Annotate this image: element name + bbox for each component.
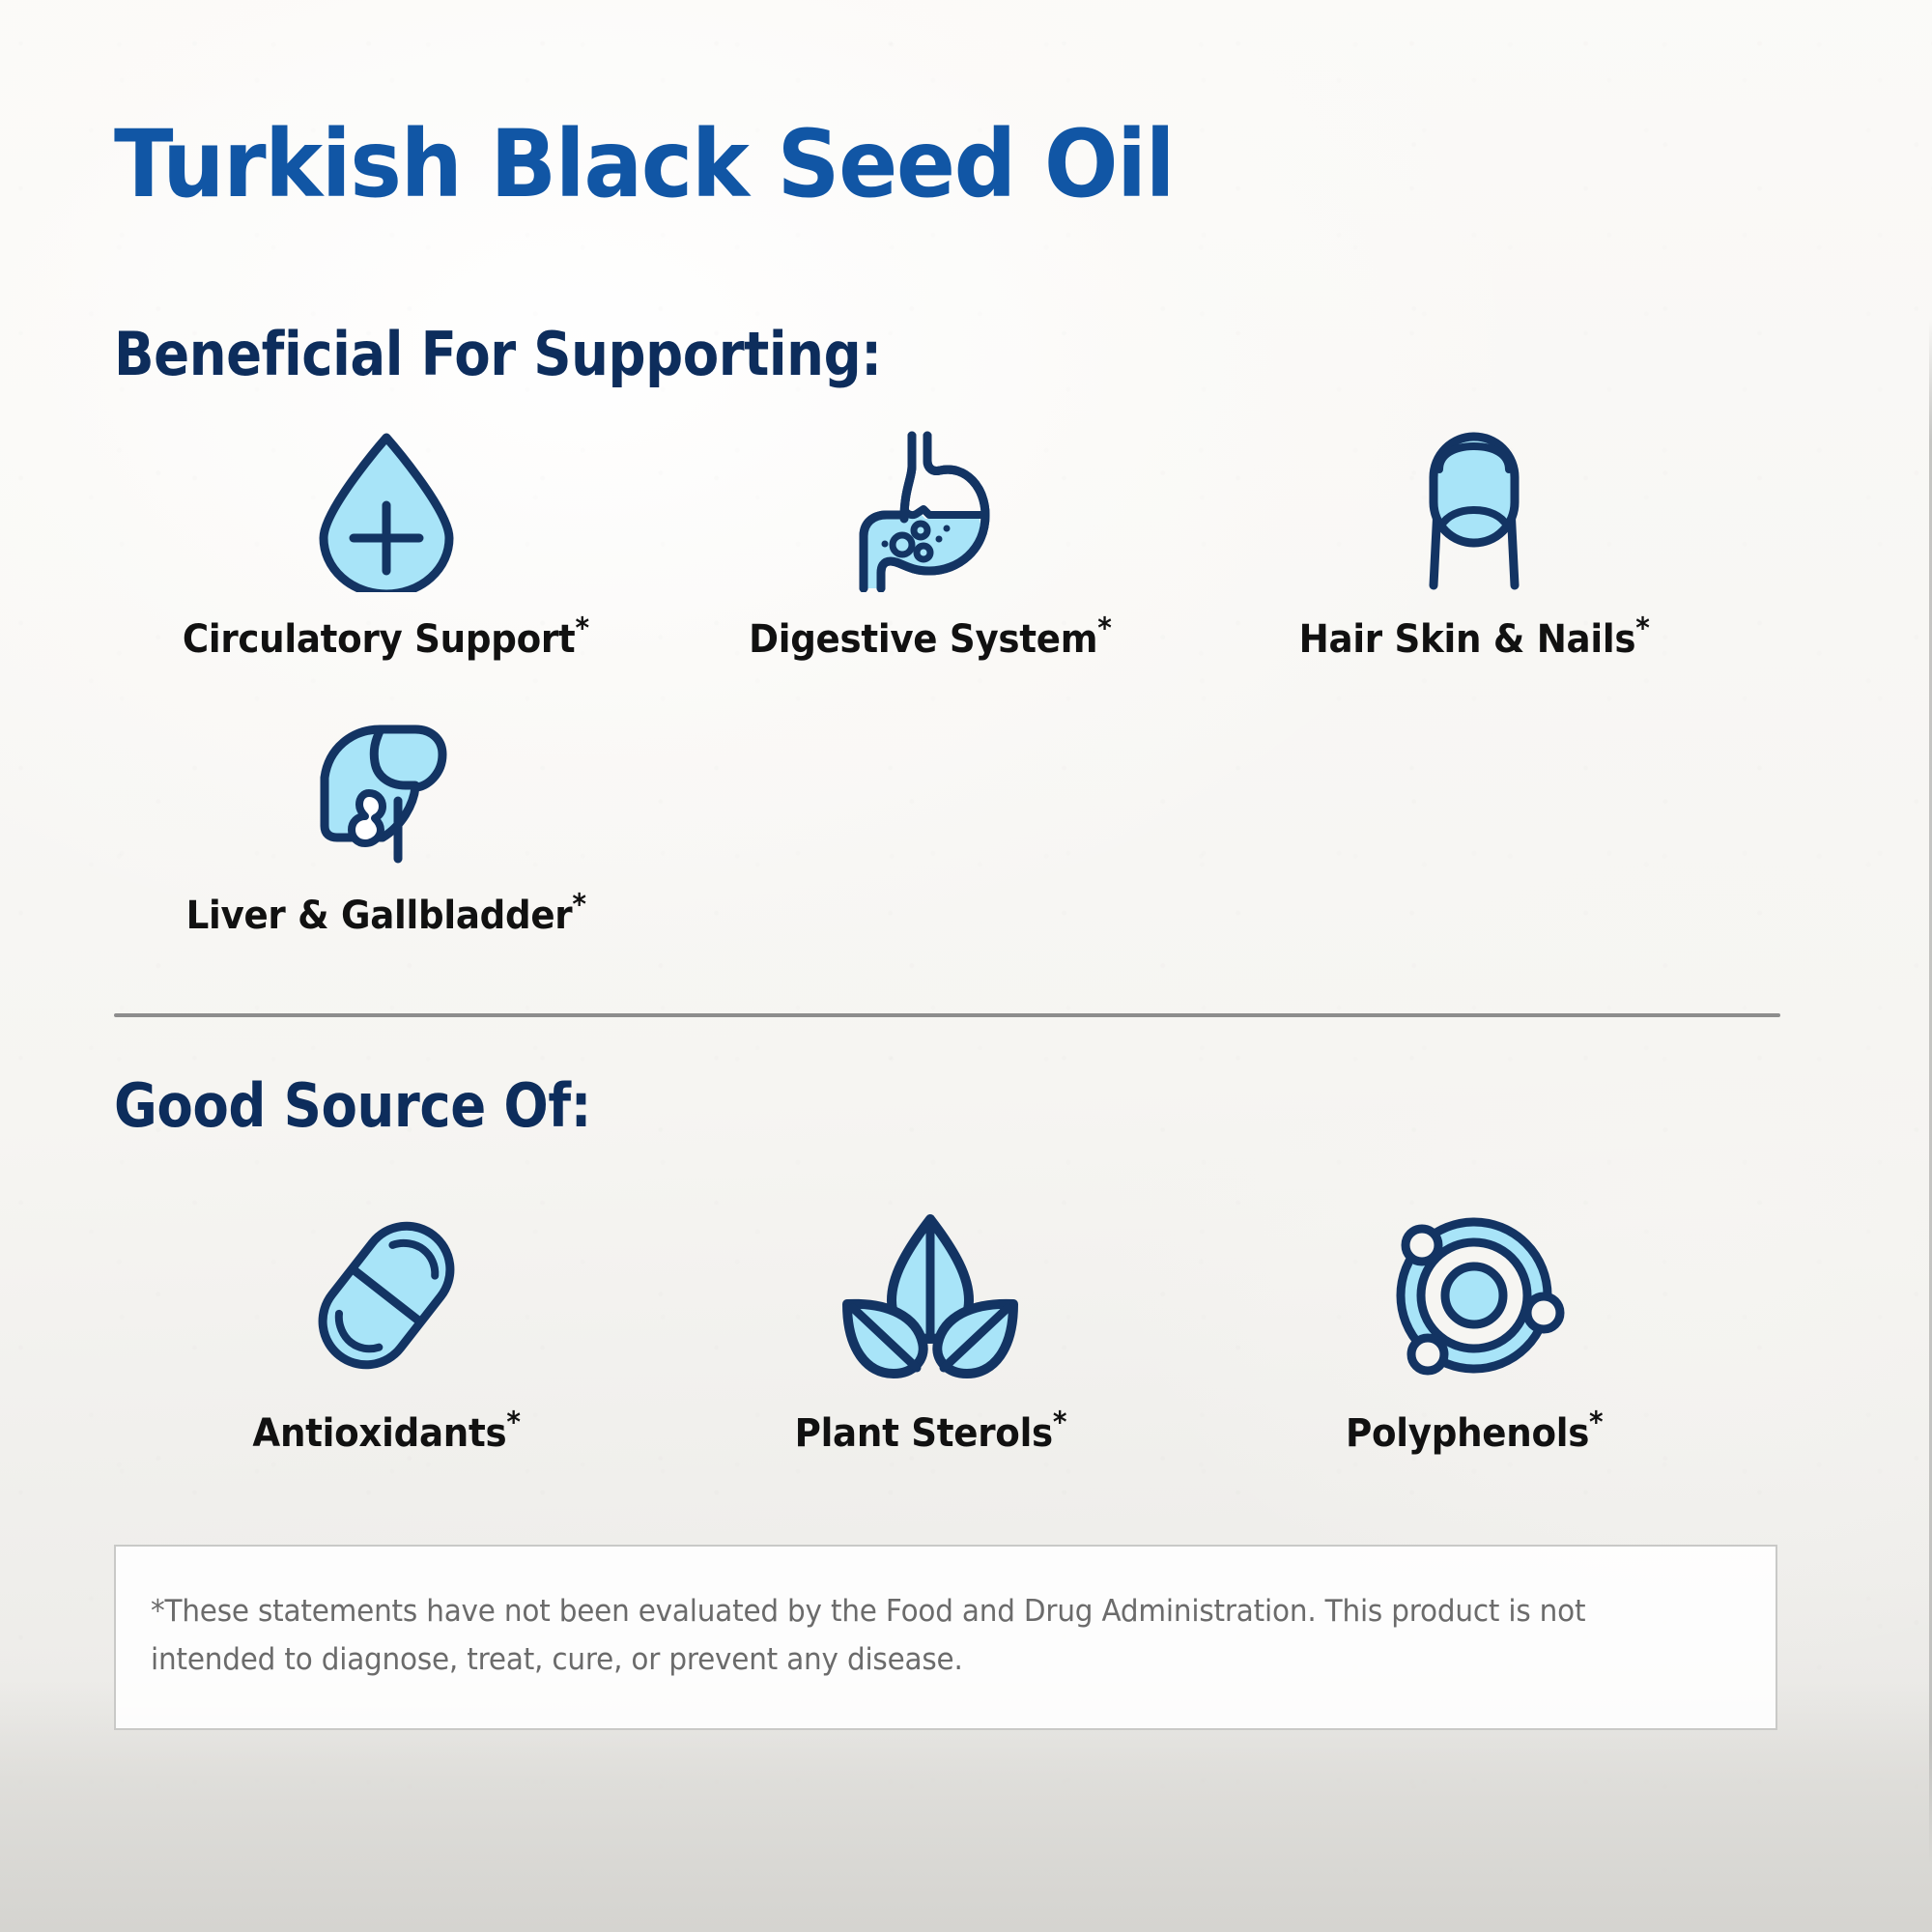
disclaimer-box: *These statements have not been evaluate… bbox=[114, 1545, 1777, 1730]
grid-spacer bbox=[658, 702, 1202, 938]
feature-digestive-system: Digestive System* bbox=[658, 426, 1202, 662]
source-polyphenols: Polyphenols* bbox=[1203, 1201, 1747, 1456]
feature-label: Digestive System* bbox=[749, 617, 1111, 662]
capsule-pill-icon bbox=[298, 1201, 474, 1390]
disclaimer-text: *These statements have not been evaluate… bbox=[151, 1587, 1662, 1684]
feature-label: Hair Skin & Nails* bbox=[1299, 617, 1650, 662]
feature-hair-skin-nails: Hair Skin & Nails* bbox=[1203, 426, 1747, 662]
grid-spacer bbox=[1203, 702, 1747, 938]
source-plant-sterols: Plant Sterols* bbox=[658, 1201, 1202, 1456]
page-title: Turkish Black Seed Oil bbox=[114, 0, 1716, 213]
feature-label: Circulatory Support* bbox=[183, 617, 589, 662]
good-source-icon-row: Antioxidants* Plant bbox=[114, 1201, 1747, 1456]
source-label: Antioxidants* bbox=[252, 1411, 520, 1456]
feature-circulatory-support: Circulatory Support* bbox=[114, 426, 658, 662]
source-label: Plant Sterols* bbox=[794, 1411, 1066, 1456]
section-heading-beneficial: Beneficial For Supporting: bbox=[114, 319, 1613, 389]
liver-gallbladder-icon bbox=[301, 702, 471, 868]
atom-orbit-icon bbox=[1379, 1201, 1569, 1390]
source-label: Polyphenols* bbox=[1346, 1411, 1603, 1456]
section-heading-good-source: Good Source Of: bbox=[114, 1070, 1613, 1141]
source-antioxidants: Antioxidants* bbox=[114, 1201, 658, 1456]
beneficial-icon-row-2: Liver & Gallbladder* bbox=[114, 702, 1747, 938]
section-divider bbox=[114, 1013, 1780, 1017]
infographic-page: Turkish Black Seed Oil Beneficial For Su… bbox=[0, 0, 1932, 1932]
blood-drop-plus-icon bbox=[304, 426, 469, 592]
three-leaves-icon bbox=[834, 1201, 1027, 1390]
feature-liver-gallbladder: Liver & Gallbladder* bbox=[114, 702, 658, 938]
beneficial-icon-row-1: Circulatory Support* bbox=[114, 426, 1747, 662]
stomach-icon bbox=[844, 426, 1016, 592]
fingernail-icon bbox=[1401, 426, 1548, 592]
feature-label: Liver & Gallbladder* bbox=[186, 894, 586, 938]
